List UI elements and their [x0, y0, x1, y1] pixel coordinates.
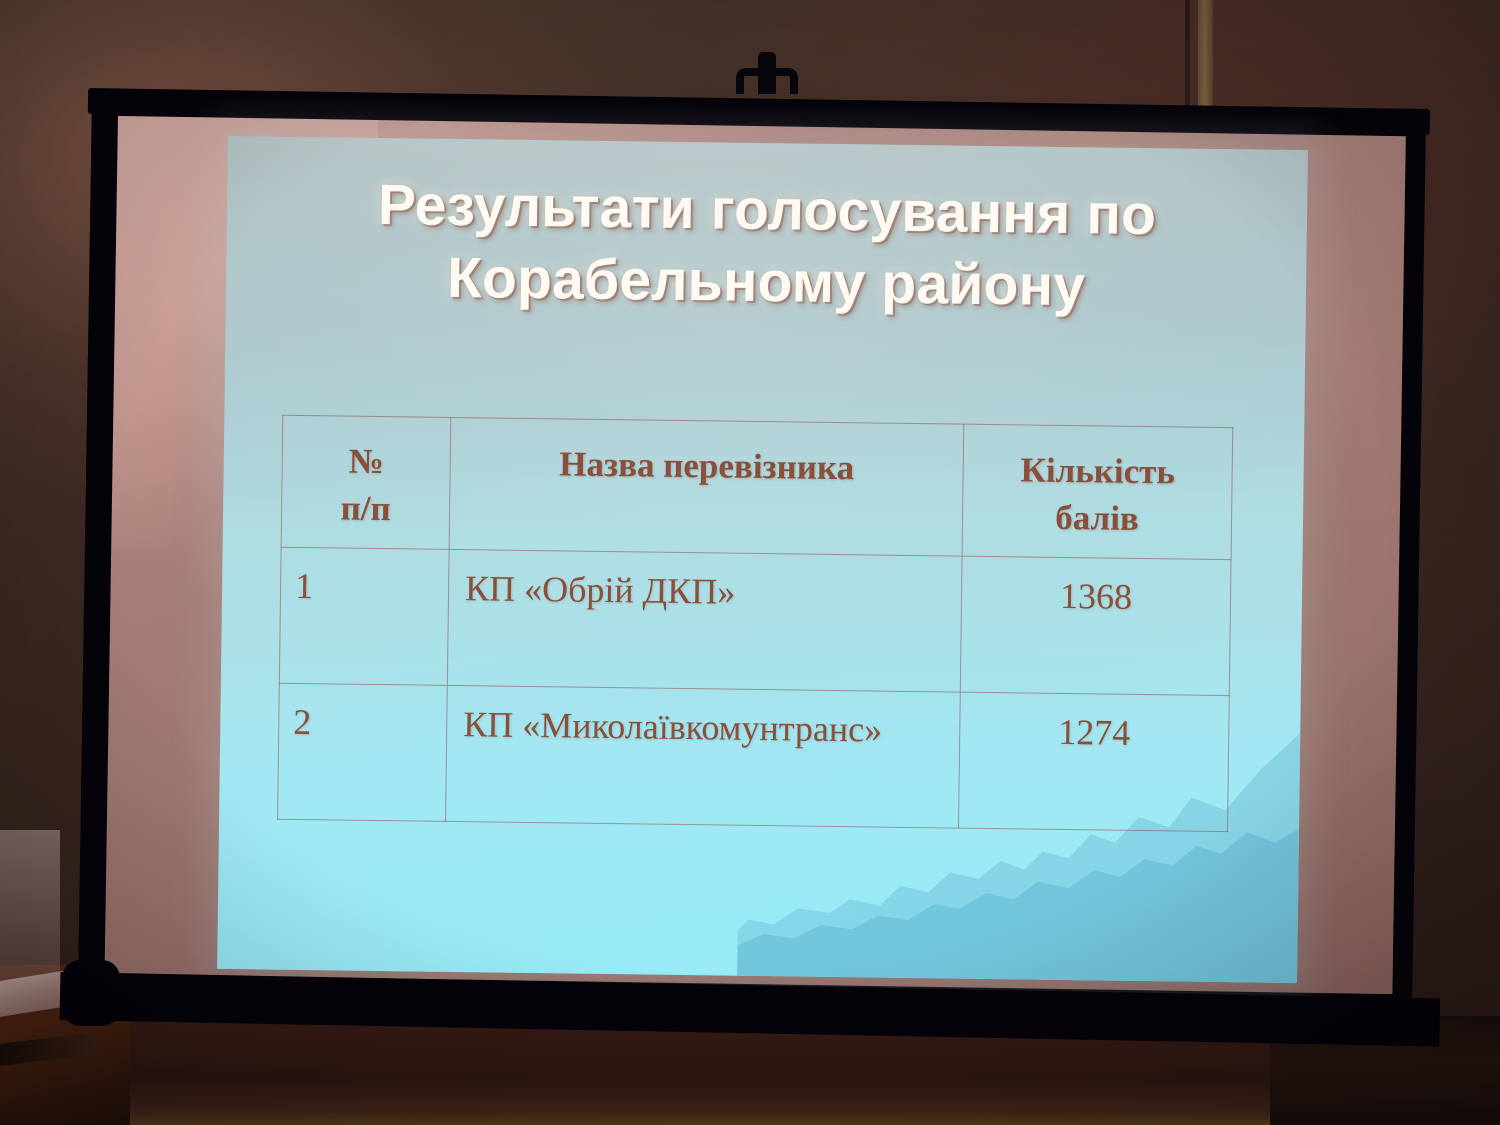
column-header-number-line-2: п/п	[282, 484, 450, 533]
mount-stem	[758, 52, 776, 94]
slide-title: Результати голосування по Корабельному р…	[286, 169, 1248, 325]
cell-number: 2	[278, 683, 448, 821]
cell-carrier-name: КП «Обрій ДКП»	[447, 549, 962, 692]
column-header-score-line-2: балів	[963, 493, 1232, 543]
results-table: № п/п Назва перевізника Кількість балів …	[277, 415, 1233, 832]
mount-arm-right	[776, 68, 798, 94]
cell-carrier-name: КП «Миколаївкомунтранс»	[446, 685, 961, 828]
slide-title-line-1: Результати голосування по	[287, 169, 1248, 253]
projected-slide: Результати голосування по Корабельному р…	[217, 136, 1308, 983]
column-header-carrier-name: Назва перевізника	[449, 417, 964, 556]
photo-scene: Результати голосування по Корабельному р…	[0, 0, 1500, 1125]
cell-number: 1	[279, 547, 449, 685]
wall-light-strip	[1198, 0, 1213, 118]
wall-corner-seam	[1185, 0, 1190, 110]
column-header-number: № п/п	[281, 415, 451, 549]
cell-score: 1274	[959, 692, 1230, 832]
column-header-score: Кількість балів	[962, 424, 1233, 560]
wall-panel-left	[0, 830, 60, 980]
mount-arm-left	[736, 68, 758, 94]
screen-bottom-knob	[62, 960, 120, 1026]
table-header-row: № п/п Назва перевізника Кількість балів	[281, 415, 1233, 559]
table-body: 1 КП «Обрій ДКП» 1368 2 КП «Миколаївкому…	[278, 547, 1231, 831]
screen-ceiling-mount-icon	[736, 52, 798, 94]
column-header-number-line-1: №	[282, 438, 450, 487]
column-header-carrier-name-text: Назва перевізника	[450, 440, 963, 493]
cell-score: 1368	[960, 556, 1231, 696]
slide-title-line-2: Корабельному району	[286, 241, 1247, 325]
table-row: 2 КП «Миколаївкомунтранс» 1274	[278, 683, 1230, 831]
table-head: № п/п Назва перевізника Кількість балів	[281, 415, 1233, 559]
table-row: 1 КП «Обрій ДКП» 1368	[279, 547, 1231, 695]
column-header-score-line-1: Кількість	[963, 447, 1232, 497]
